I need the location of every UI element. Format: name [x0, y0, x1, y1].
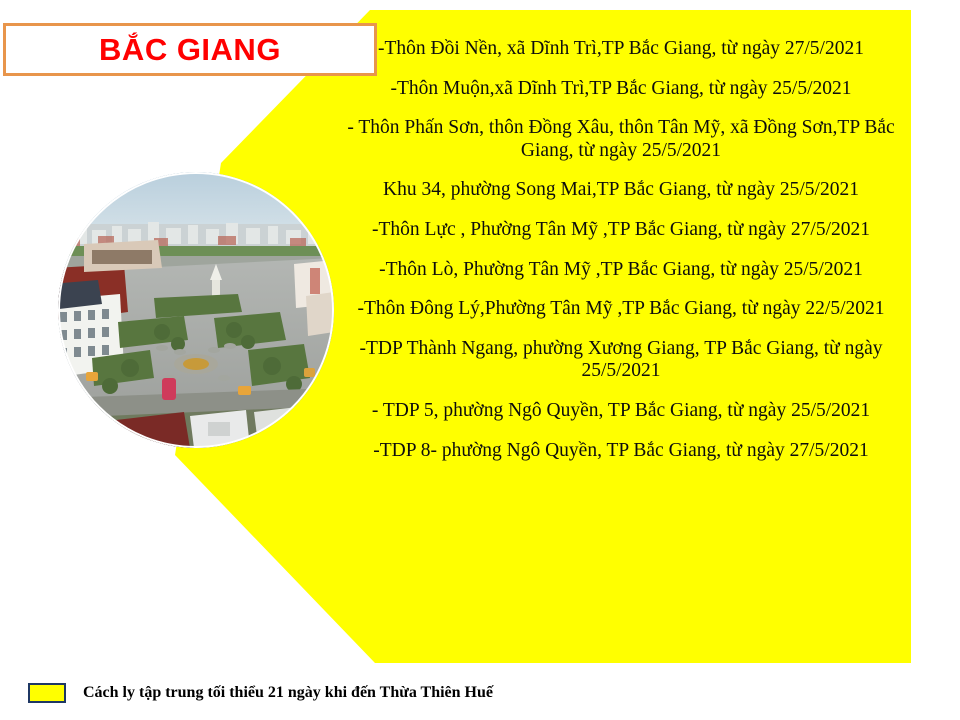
list-item: - Thôn Phấn Sơn, thôn Đồng Xâu, thôn Tân…: [336, 117, 906, 162]
location-list: -Thôn Đồi Nền, xã Dĩnh Trì,TP Bắc Giang,…: [336, 38, 906, 462]
list-item: -Thôn Lò, Phường Tân Mỹ ,TP Bắc Giang, t…: [336, 259, 906, 282]
list-item: -TDP 8- phường Ngô Quyền, TP Bắc Giang, …: [336, 440, 906, 463]
legend-label: Cách ly tập trung tối thiểu 21 ngày khi …: [83, 684, 493, 702]
slide-canvas: BẮC GIANG -Thôn Đồi Nền, xã Dĩnh Trì,TP …: [0, 0, 960, 720]
legend-color-swatch: [28, 683, 66, 703]
list-item: -Thôn Đồi Nền, xã Dĩnh Trì,TP Bắc Giang,…: [336, 38, 906, 61]
city-photo: [58, 172, 334, 448]
list-item: Khu 34, phường Song Mai,TP Bắc Giang, từ…: [336, 179, 906, 202]
list-item: - TDP 5, phường Ngô Quyền, TP Bắc Giang,…: [336, 400, 906, 423]
page-title: BẮC GIANG: [99, 34, 281, 65]
legend: Cách ly tập trung tối thiểu 21 ngày khi …: [28, 683, 493, 703]
list-item: -Thôn Đông Lý,Phường Tân Mỹ ,TP Bắc Gian…: [336, 298, 906, 321]
list-item: -Thôn Lực , Phường Tân Mỹ ,TP Bắc Giang,…: [336, 219, 906, 242]
list-item: -TDP Thành Ngang, phường Xương Giang, TP…: [336, 338, 906, 383]
province-title-box: BẮC GIANG: [3, 23, 377, 76]
list-item: -Thôn Muộn,xã Dĩnh Trì,TP Bắc Giang, từ …: [336, 78, 906, 101]
